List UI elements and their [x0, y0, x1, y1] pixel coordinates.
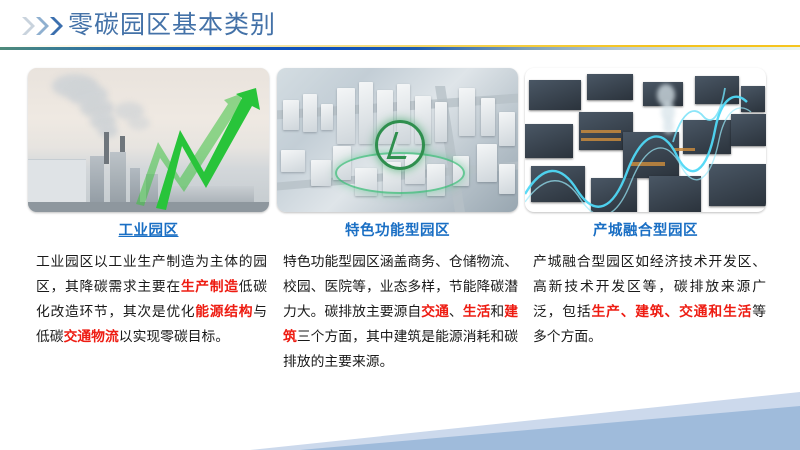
card-title: 产城融合型园区 — [525, 219, 766, 240]
dark-aerial-city-cyan-wave-illustration — [525, 68, 766, 212]
card-title: 特色功能型园区 — [277, 219, 518, 240]
card-industrial-park[interactable]: 工业园区 工业园区以工业生产制造为主体的园区，其降碳需求主要在生产制造低碳化改造… — [28, 68, 269, 349]
body-text-run: 和 — [490, 304, 504, 319]
highlighted-term: 生活 — [463, 304, 491, 319]
card-featured-function-park[interactable]: 特色功能型园区 特色功能型园区涵盖商务、仓储物流、校园、医院等，业态多样，节能降… — [277, 68, 518, 374]
highlighted-term: 交通物流 — [64, 329, 119, 344]
bottom-diagonal-bands — [0, 390, 800, 450]
body-text-run: 以实现零碳目标。 — [119, 329, 229, 344]
card-body: 特色功能型园区涵盖商务、仓储物流、校园、医院等，业态多样，节能降碳潜力大。碳排放… — [277, 249, 518, 374]
card-title: 工业园区 — [28, 219, 269, 240]
card-industry-city-integration-park[interactable]: 产城融合型园区 产城融合型园区如经济技术开发区、高新技术开发区等，碳排放来源广泛… — [525, 68, 766, 349]
double-chevron-right-icon — [22, 17, 66, 35]
highlighted-term: 能源结构 — [195, 304, 253, 319]
isometric-white-city-model-green-emblem-illustration — [277, 68, 518, 212]
page-title: 零碳园区基本类别 — [68, 8, 276, 42]
card-body: 工业园区以工业生产制造为主体的园区，其降碳需求主要在生产制造低碳化改造环节，其次… — [28, 249, 269, 349]
card-body: 产城融合型园区如经济技术开发区、高新技术开发区等，碳排放来源广泛，包括生产、建筑… — [525, 249, 766, 349]
highlighted-term: 生产、建筑、交通和生活 — [591, 304, 752, 319]
header-rule-blue — [0, 47, 800, 50]
highlighted-term: 生产制造 — [181, 279, 239, 294]
green-leaf-emblem-icon — [375, 120, 425, 170]
body-text-run: 、 — [449, 304, 463, 319]
body-text-run: 三个方面，其中建筑是能源消耗和碳排放的主要来源。 — [283, 329, 518, 369]
slide-header: 零碳园区基本类别 — [0, 0, 800, 52]
highlighted-term: 交通 — [421, 304, 449, 319]
industrial-park-smokestacks-green-arrow-photo — [28, 68, 269, 212]
